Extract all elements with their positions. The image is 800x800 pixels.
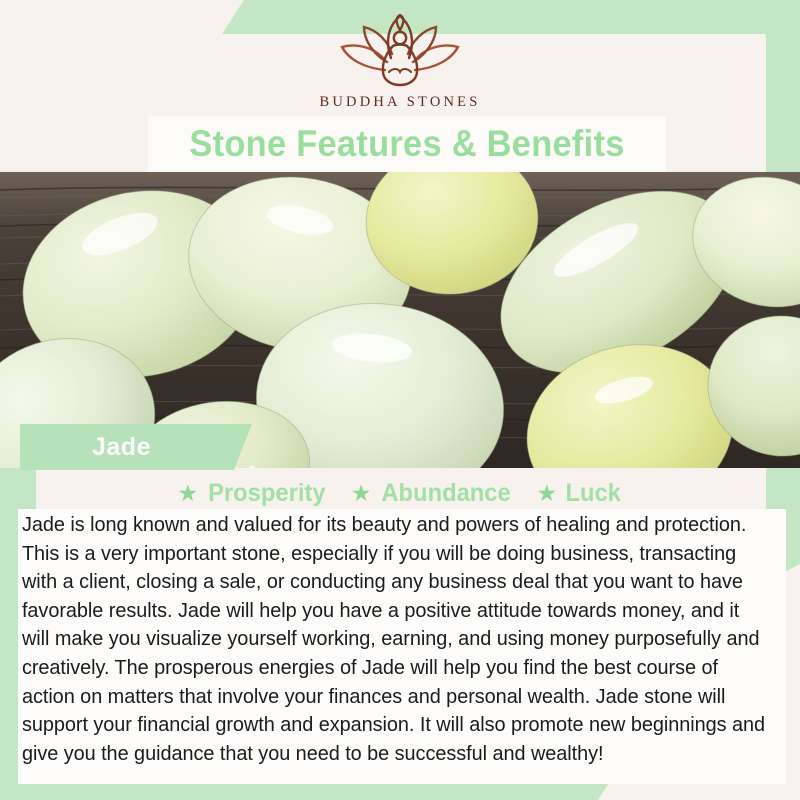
stone-name-band: Jade xyxy=(20,424,252,470)
brand-name: BUDDHA STONES xyxy=(0,94,800,111)
benefit-item-prosperity: ★ Prosperity xyxy=(177,479,328,508)
description-text: Jade is long known and valued for its be… xyxy=(18,509,774,768)
brand-logo-block: BUDDHA STONES xyxy=(0,14,800,111)
description-panel: Jade is long known and valued for its be… xyxy=(18,509,786,784)
lotus-meditation-icon xyxy=(325,14,475,90)
benefit-item-abundance: ★ Abundance xyxy=(351,479,515,508)
benefit-label: Abundance xyxy=(382,479,511,508)
benefits-row: ★ Prosperity ★ Abundance ★ Luck xyxy=(0,479,800,508)
star-icon: ★ xyxy=(351,482,372,505)
infographic-page: BUDDHA STONES Stone Features & Benefits xyxy=(0,0,800,800)
stone-name: Jade xyxy=(92,433,151,462)
benefit-label: Luck xyxy=(566,479,621,508)
title-banner: Stone Features & Benefits xyxy=(148,116,666,172)
benefit-item-luck: ★ Luck xyxy=(537,479,623,508)
benefit-label: Prosperity xyxy=(208,479,325,508)
star-icon: ★ xyxy=(537,482,558,505)
page-title: Stone Features & Benefits xyxy=(189,123,624,165)
star-icon: ★ xyxy=(177,482,198,505)
jade-stones-photo xyxy=(0,172,800,468)
